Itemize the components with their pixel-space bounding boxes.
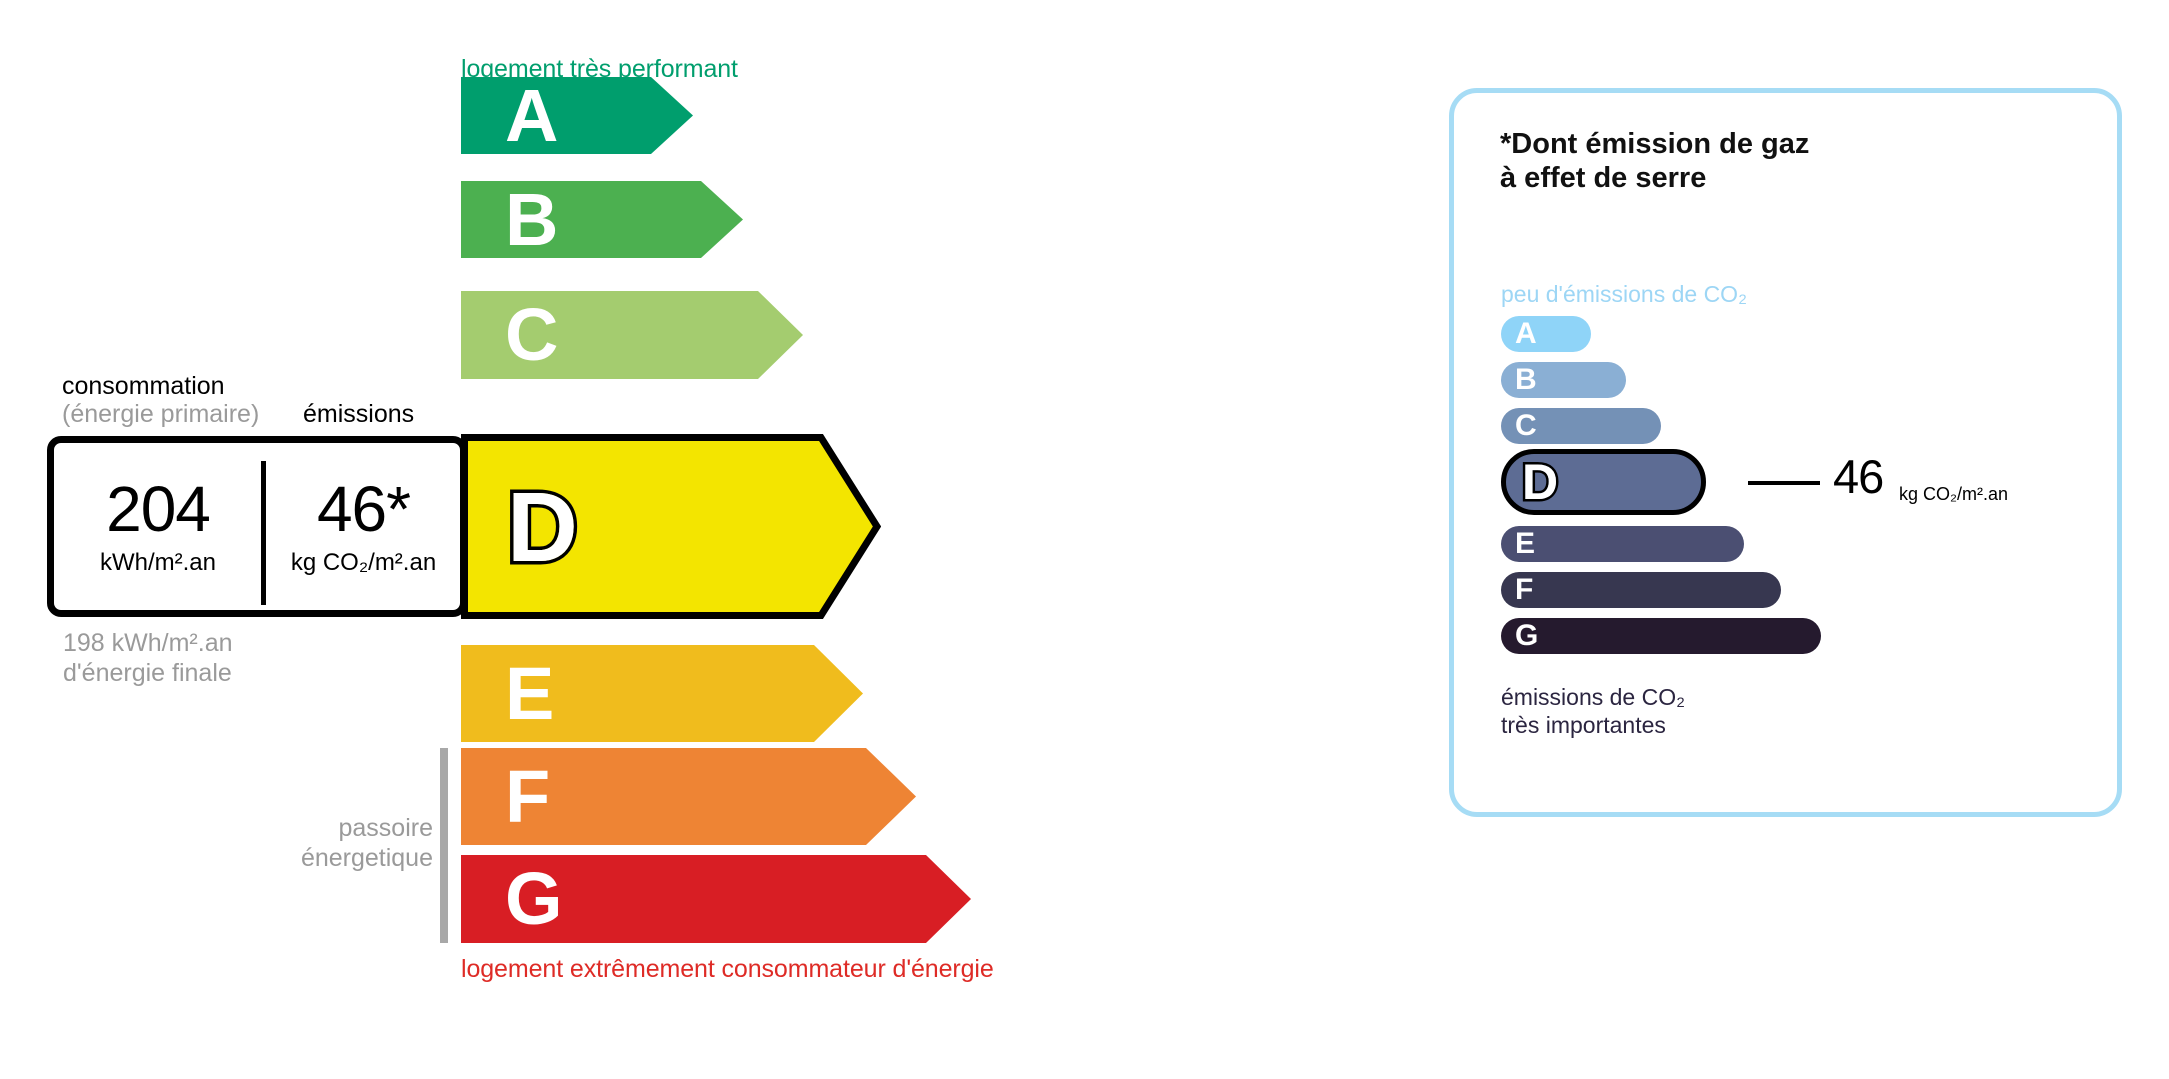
emissions-unit: kg CO₂/m².an [291,549,436,577]
co2-band-letter-E: E [1515,529,1535,559]
co2-band-G[interactable]: G [1501,618,1821,654]
co2-panel-title-line1: *Dont émission de gaz [1500,127,1809,161]
energy-band-letter-E: E [505,657,554,731]
co2-band-letter-B: B [1515,365,1537,395]
consumption-value-cell: 204 kWh/m².an [54,443,262,610]
energy-band-F[interactable]: F [461,748,916,845]
co2-band-D[interactable]: D D 46 kg CO₂/m².an [1501,449,1706,515]
co2-band-F[interactable]: F [1501,572,1781,608]
emissions-value-cell: 46* kg CO₂/m².an [266,443,461,610]
passoire-label-line1: passoire [268,813,433,843]
co2-band-B[interactable]: B [1501,362,1626,398]
energy-band-letter-C: C [505,298,558,372]
co2-band-letter-F: F [1515,575,1533,605]
co2-leader-line [1748,481,1820,485]
energy-band-letter-D: D [507,478,578,576]
band-arrow-shape [461,181,743,258]
co2-bottom-caption-line1: émissions de CO₂ [1501,684,1685,712]
consumption-label: consommation (énergie primaire) [62,372,259,428]
energy-band-letter-G: G [505,862,563,936]
band-arrow-shape [461,77,693,154]
emissions-value: 46* [317,477,410,541]
energy-band-C[interactable]: C [461,291,803,379]
final-energy-text: d'énergie finale [63,658,233,688]
co2-bar-shape: C [1501,408,1661,444]
co2-bottom-caption: émissions de CO₂ très importantes [1501,684,1685,739]
energy-band-D[interactable]: D D [461,434,881,619]
co2-bar-shape: G [1501,618,1821,654]
energy-band-letter-F: F [505,760,550,834]
co2-band-C[interactable]: C [1501,408,1661,444]
co2-bar-shape: F [1501,572,1781,608]
passoire-label-line2: énergetique [268,843,433,873]
passoire-label: passoire énergetique [268,813,433,873]
final-energy-note: 198 kWh/m².an d'énergie finale [63,628,233,688]
energy-band-G[interactable]: G [461,855,971,943]
energy-band-E[interactable]: E [461,645,863,742]
co2-panel-title: *Dont émission de gaz à effet de serre [1500,127,1809,195]
co2-band-letter-D: D [1522,457,1558,507]
co2-band-letter-C: C [1515,411,1537,441]
co2-bar-shape: A [1501,316,1591,352]
co2-band-letter-G: G [1515,621,1538,651]
energy-scale-bottom-caption: logement extrêmement consommateur d'éner… [461,955,994,984]
co2-panel-title-line2: à effet de serre [1500,161,1809,195]
passoire-bracket [440,748,448,943]
co2-bar-shape-highlighted: D D [1501,449,1706,515]
dpe-diagram: logement très performant A B C D D E [0,0,2169,1079]
energy-band-A[interactable]: A [461,77,693,154]
co2-value-unit: kg CO₂/m².an [1899,484,2008,505]
co2-bar-shape: E [1501,526,1744,562]
energy-band-B[interactable]: B [461,181,743,258]
co2-bottom-caption-line2: très importantes [1501,712,1685,740]
co2-panel: *Dont émission de gaz à effet de serre p… [1449,88,2122,817]
energy-band-letter-A: A [505,79,558,153]
consumption-value: 204 [106,477,210,541]
consumption-label-sub: (énergie primaire) [62,400,259,428]
consumption-unit: kWh/m².an [100,549,216,577]
co2-band-A[interactable]: A [1501,316,1591,352]
co2-value: 46 [1833,453,1883,500]
co2-bar-shape: B [1501,362,1626,398]
final-energy-value: 198 kWh/m².an [63,628,233,658]
emissions-label: émissions [303,400,414,429]
co2-band-E[interactable]: E [1501,526,1744,562]
co2-top-caption: peu d'émissions de CO₂ [1501,281,1747,308]
consumption-label-main: consommation [62,372,225,400]
energy-band-letter-B: B [505,183,558,257]
co2-band-letter-A: A [1515,319,1537,349]
dpe-value-box: 204 kWh/m².an 46* kg CO₂/m².an [47,436,467,617]
